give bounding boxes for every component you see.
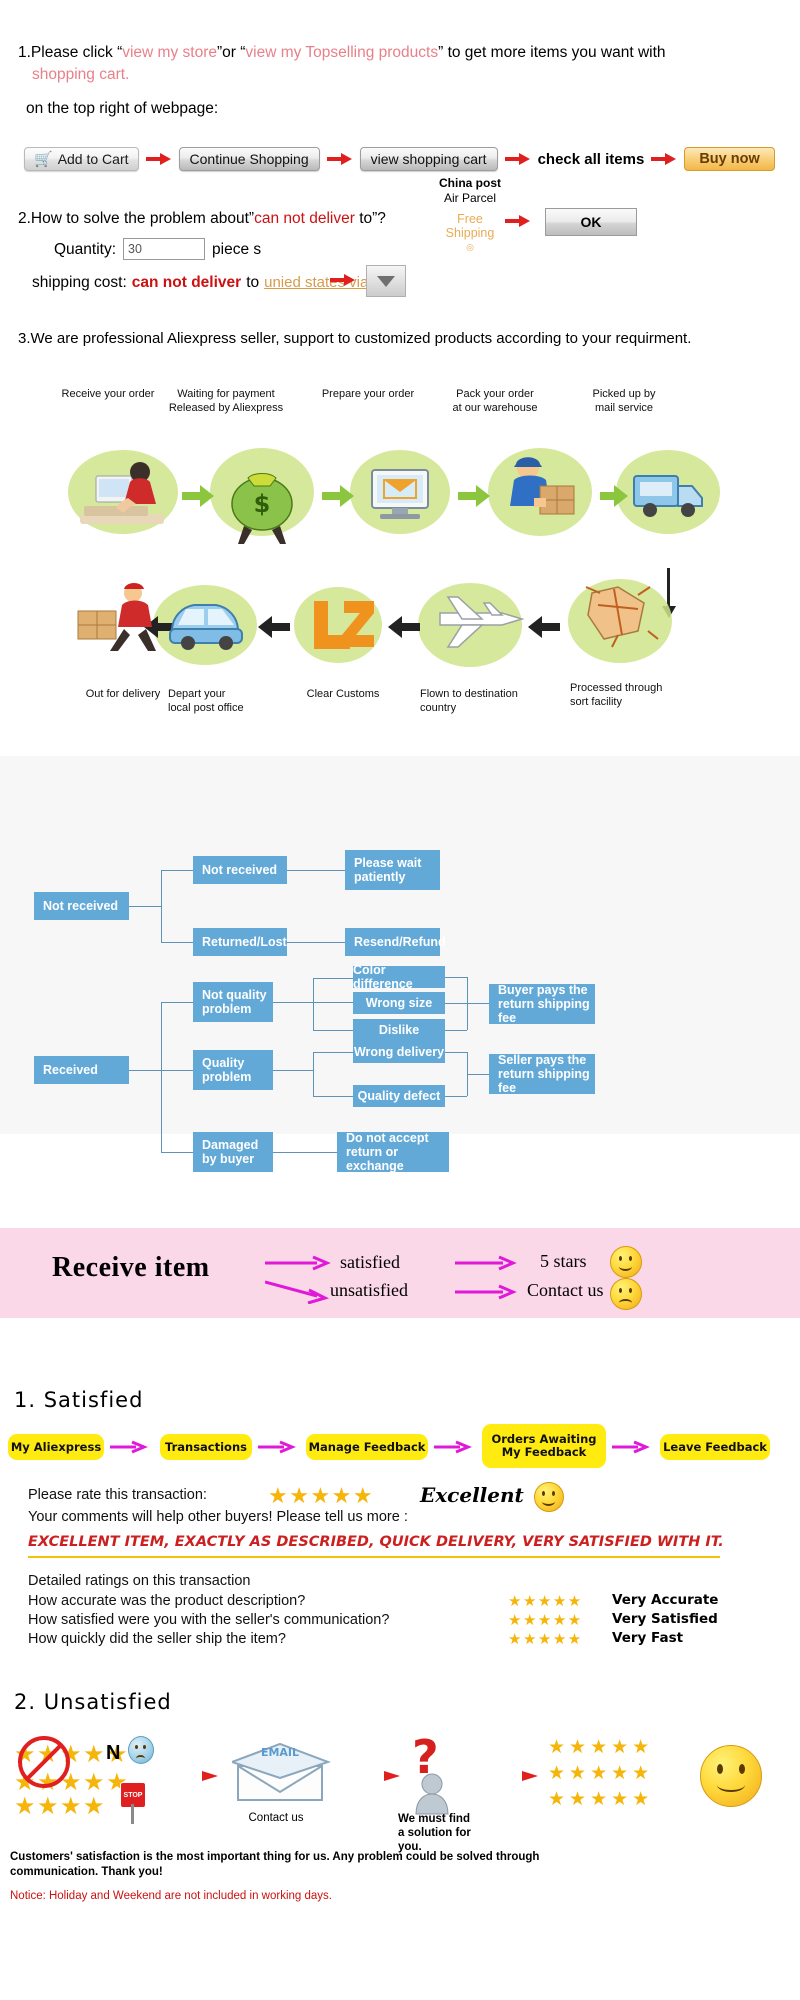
problem-resolution-flowchart: Not received Not received Returned/Lost … xyxy=(0,756,800,1134)
flow-label-bottom-2: Clear Customs xyxy=(288,688,398,702)
detailed-ratings-title: Detailed ratings on this transaction xyxy=(28,1572,250,1591)
connector xyxy=(445,1096,467,1097)
step-my-aliexpress[interactable]: My Aliexpress xyxy=(8,1434,104,1460)
arrow-right-icon xyxy=(455,1283,521,1301)
rating-word: Excellent xyxy=(420,1483,524,1507)
smiley-happy-icon xyxy=(534,1482,564,1512)
connector xyxy=(273,1070,313,1071)
connector xyxy=(161,1002,193,1003)
box-wrong-delivery: Wrong delivery xyxy=(353,1041,445,1063)
box-quality-defect: Quality defect xyxy=(353,1085,445,1107)
no-sign-icon xyxy=(18,1736,70,1788)
add-to-cart-label: Add to Cart xyxy=(58,151,129,167)
svg-text:$: $ xyxy=(254,490,271,518)
svg-text:EMAIL: EMAIL xyxy=(261,1746,299,1759)
box-not-received-root: Not received xyxy=(34,892,129,920)
detail-answer-1: Very Satisfied xyxy=(612,1611,718,1627)
connector xyxy=(161,1070,193,1071)
step-transactions[interactable]: Transactions xyxy=(160,1434,252,1460)
box-please-wait: Please wait patiently xyxy=(345,850,440,890)
connector xyxy=(313,1030,353,1031)
connector xyxy=(313,978,314,1030)
flow-label-top-0: Receive your order xyxy=(58,388,158,402)
link-view-my-store[interactable]: view my store xyxy=(122,44,217,61)
footer-line-1: Customers' satisfaction is the most impo… xyxy=(10,1850,610,1865)
arrow-right-icon xyxy=(146,152,172,166)
china-post-sub: Air Parcel xyxy=(415,191,525,206)
flow-label-top-4: Picked up by mail service xyxy=(574,388,674,415)
connector xyxy=(129,1070,161,1071)
section-1-line-1: 1.Please click “view my store”or “view m… xyxy=(18,42,782,64)
comment-underline xyxy=(28,1556,720,1558)
box-not-received-child: Not received xyxy=(193,856,287,884)
comments-prompt: Your comments will help other buyers! Pl… xyxy=(28,1508,408,1527)
contact-us-caption: Contact us xyxy=(216,1812,336,1824)
connector xyxy=(161,870,193,871)
detail-question-1: How satisfied were you with the seller's… xyxy=(28,1611,389,1630)
box-resend-refund: Resend/Refund xyxy=(345,928,440,956)
arrow-right-icon xyxy=(612,1440,652,1454)
box-buyer-pays: Buyer pays the return shipping fee xyxy=(489,984,595,1024)
footer-notice: Notice: Holiday and Weekend are not incl… xyxy=(10,1890,332,1902)
connector xyxy=(313,1052,353,1053)
buy-now-button[interactable]: Buy now xyxy=(684,147,774,171)
link-view-topselling[interactable]: view my Topselling products xyxy=(245,44,438,61)
gold-stars-row-2: ★★★★★ xyxy=(548,1762,653,1785)
receive-item-title: Receive item xyxy=(52,1252,210,1284)
satisfied-heading: 1. Satisfied xyxy=(14,1388,143,1412)
smiley-large-icon xyxy=(700,1745,762,1807)
arrow-right-icon xyxy=(434,1440,474,1454)
unsatisfied-label: unsatisfied xyxy=(330,1280,408,1301)
box-seller-pays: Seller pays the return shipping fee xyxy=(489,1054,595,1094)
arrow-right-icon xyxy=(265,1254,335,1272)
connector xyxy=(313,1002,353,1003)
step-orders-awaiting-feedback[interactable]: Orders Awaiting My Feedback xyxy=(482,1424,606,1468)
free-shipping-line2: Shipping xyxy=(415,226,525,240)
connector xyxy=(445,1003,467,1004)
arrow-right-icon xyxy=(330,273,356,287)
rate-transaction-prompt: Please rate this transaction: xyxy=(28,1486,207,1505)
rating-stars[interactable]: ★★★★★ xyxy=(268,1483,374,1509)
connector xyxy=(467,1074,489,1075)
box-returned-lost: Returned/Lost xyxy=(193,928,287,956)
arrow-right-icon xyxy=(651,152,677,166)
detail-question-0: How accurate was the product description… xyxy=(28,1592,305,1611)
arrow-right-icon xyxy=(168,1768,220,1784)
unsatisfied-heading: 2. Unsatisfied xyxy=(14,1690,172,1714)
shipping-cost-red: can not deliver xyxy=(132,272,241,293)
s1-top-right-text: on the top right of webpage: xyxy=(26,98,782,120)
connector xyxy=(313,978,353,979)
arrow-right-icon xyxy=(455,1254,521,1272)
china-post-block: China post Air Parcel xyxy=(415,176,525,206)
box-wrong-size: Wrong size xyxy=(353,992,445,1014)
quantity-label: Quantity: xyxy=(54,239,116,260)
connector xyxy=(467,1003,489,1004)
connector xyxy=(161,942,193,943)
arrow-right-icon xyxy=(110,1440,150,1454)
detail-answer-2: Very Fast xyxy=(612,1630,683,1646)
ok-button[interactable]: OK xyxy=(545,208,637,236)
smiley-happy-icon xyxy=(610,1246,642,1278)
unsatisfied-stars-row-3: ★★★★ xyxy=(14,1792,106,1821)
s2-heading-b: to”? xyxy=(355,210,386,227)
box-damaged-by-buyer: Damaged by buyer xyxy=(193,1132,273,1172)
s1-text-a: 1.Please click “ xyxy=(18,44,122,61)
flow-label-bottom-3: Flown to destination country xyxy=(420,688,538,715)
shipping-method-dropdown[interactable] xyxy=(366,265,406,297)
china-post-title: China post xyxy=(415,176,525,191)
thinking-person-icon xyxy=(400,1772,464,1816)
view-shopping-cart-button[interactable]: view shopping cart xyxy=(360,147,498,171)
arrow-right-icon xyxy=(505,152,531,166)
flow-label-top-1: Waiting for payment Released by Aliexpre… xyxy=(158,388,294,415)
chevron-down-icon xyxy=(377,276,395,287)
receive-item-banner: Receive item satisfied unsatisfied 5 sta… xyxy=(0,1228,800,1318)
flow-top-graphics: $ xyxy=(0,420,800,570)
arrow-right-icon xyxy=(327,152,353,166)
s2-heading-red: can not deliver xyxy=(254,210,355,227)
detail-stars-1[interactable]: ★★★★★ xyxy=(508,1611,583,1629)
flow-label-bottom-0: Out for delivery xyxy=(68,688,178,702)
gold-stars-row-1: ★★★★★ xyxy=(548,1736,653,1759)
detail-answer-0: Very Accurate xyxy=(612,1592,718,1608)
connector xyxy=(445,1052,467,1053)
box-not-quality-problem: Not quality problem xyxy=(193,982,273,1022)
step-manage-feedback[interactable]: Manage Feedback xyxy=(306,1434,428,1460)
box-received-root: Received xyxy=(34,1056,129,1084)
connector xyxy=(161,870,162,942)
footer-line-2: communication. Thank you! xyxy=(10,1865,610,1880)
connector xyxy=(445,1030,467,1031)
s2-heading-a: 2.How to solve the problem about” xyxy=(18,210,254,227)
smiley-worried-icon xyxy=(128,1736,154,1764)
no-letter-label: N xyxy=(106,1742,120,1765)
detail-stars-0[interactable]: ★★★★★ xyxy=(508,1592,583,1610)
step-leave-feedback[interactable]: Leave Feedback xyxy=(660,1434,770,1460)
connector xyxy=(161,1152,193,1153)
shipping-cost-label: shipping cost: xyxy=(32,272,127,293)
contact-us-label: Contact us xyxy=(527,1280,604,1301)
satisfied-label: satisfied xyxy=(340,1252,400,1273)
quantity-unit: piece s xyxy=(212,239,261,260)
flow-label-top-3: Pack your order at our warehouse xyxy=(440,388,550,415)
shipping-process-diagram: Receive your order Waiting for payment R… xyxy=(0,388,800,728)
flow-label-bottom-1: Depart your local post office xyxy=(168,688,280,715)
box-quality-problem: Quality problem xyxy=(193,1050,273,1090)
s1-text-c: ” to get more items you want with xyxy=(438,44,665,61)
comment-text: EXCELLENT ITEM, EXACTLY AS DESCRIBED, QU… xyxy=(28,1534,724,1550)
radio-icon[interactable]: ◎ xyxy=(415,240,525,254)
solution-caption: We must find a solution for you. xyxy=(398,1812,528,1854)
shipping-cost-row: shipping cost:can not deliver to unied s… xyxy=(32,272,782,293)
quantity-input[interactable] xyxy=(123,238,205,260)
shopping-cart-icon: 🛒 xyxy=(34,152,53,167)
stop-sign-pole xyxy=(131,1804,134,1824)
connector xyxy=(273,1152,337,1153)
detail-question-2: How quickly did the seller ship the item… xyxy=(28,1630,286,1649)
section-1-instructions: 1.Please click “view my store”or “view m… xyxy=(18,42,782,120)
flow-label-top-2: Prepare your order xyxy=(312,388,424,402)
section-3-heading: 3.We are professional Aliexpress seller,… xyxy=(18,330,691,347)
arrow-right-icon xyxy=(488,1768,540,1784)
s1-shopping-cart-text: shopping cart. xyxy=(32,64,782,86)
add-to-cart-button[interactable]: 🛒 Add to Cart xyxy=(24,147,139,171)
detail-stars-2[interactable]: ★★★★★ xyxy=(508,1630,583,1648)
smiley-sad-icon xyxy=(610,1278,642,1310)
shipping-cost-to: to xyxy=(246,272,259,293)
connector xyxy=(313,1052,314,1096)
flow-bottom-graphics xyxy=(0,553,800,683)
connector xyxy=(273,1002,313,1003)
connector xyxy=(445,977,467,978)
box-dislike: Dislike xyxy=(353,1019,445,1041)
email-envelope-icon: EMAIL xyxy=(232,1740,336,1806)
five-stars-label: 5 stars xyxy=(540,1251,587,1272)
button-flow-row: 🛒 Add to Cart Continue Shopping view sho… xyxy=(24,143,784,175)
arrow-right-icon xyxy=(505,214,531,228)
connector xyxy=(313,1096,353,1097)
box-color-difference: Color difference xyxy=(353,966,445,988)
connector xyxy=(287,870,345,871)
box-do-not-accept: Do not accept return or exchange xyxy=(337,1132,449,1172)
section-2-heading: 2.How to solve the problem about”can not… xyxy=(18,208,782,229)
arrow-right-icon xyxy=(258,1440,298,1454)
gold-stars-row-3: ★★★★★ xyxy=(548,1788,653,1811)
flow-label-bottom-4: Processed through sort facility xyxy=(570,682,690,709)
connector xyxy=(129,906,161,907)
continue-shopping-button[interactable]: Continue Shopping xyxy=(179,147,320,171)
arrow-right-icon xyxy=(350,1768,402,1784)
check-all-items-label: check all items xyxy=(538,151,645,168)
connector xyxy=(287,942,345,943)
connector xyxy=(161,1002,162,1152)
arrow-right-down-icon xyxy=(265,1280,335,1304)
s1-text-b: ”or “ xyxy=(217,44,245,61)
